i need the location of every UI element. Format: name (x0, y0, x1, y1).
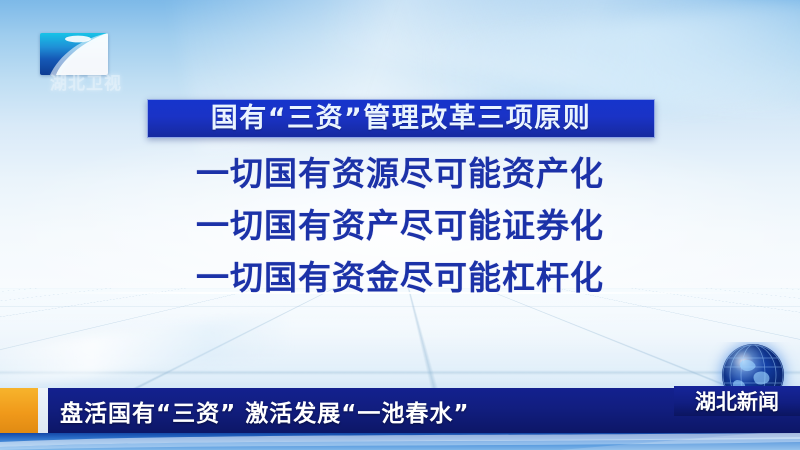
station-bug-plate: 湖北新闻 (674, 386, 800, 416)
lower-third-swoosh (0, 433, 800, 450)
station-bug-label: 湖北新闻 (695, 386, 779, 416)
broadcast-screen: 湖北卫视 国有“三资”管理改革三项原则 一切国有资源尽可能资产化 一切国有资产尽… (0, 0, 800, 450)
lower-third-headline: 盘活国有“三资” 激活发展“一池春水” (60, 394, 469, 428)
floor-light-beam (0, 312, 291, 392)
principle-line: 一切国有资产尽可能证券化 (0, 200, 800, 252)
principles-list: 一切国有资源尽可能资产化 一切国有资产尽可能证券化 一切国有资金尽可能杠杆化 (0, 148, 800, 304)
lower-third-gap (38, 388, 48, 434)
principle-line: 一切国有资源尽可能资产化 (0, 148, 800, 200)
headline-banner-text: 国有“三资”管理改革三项原则 (211, 105, 592, 132)
channel-logo (40, 33, 108, 75)
station-bug: 湖北新闻 (664, 342, 800, 434)
principle-line: 一切国有资金尽可能杠杆化 (0, 252, 800, 304)
channel-wordmark: 湖北卫视 (38, 74, 134, 94)
headline-banner: 国有“三资”管理改革三项原则 (147, 99, 655, 138)
lower-third-accent-block (0, 388, 38, 434)
